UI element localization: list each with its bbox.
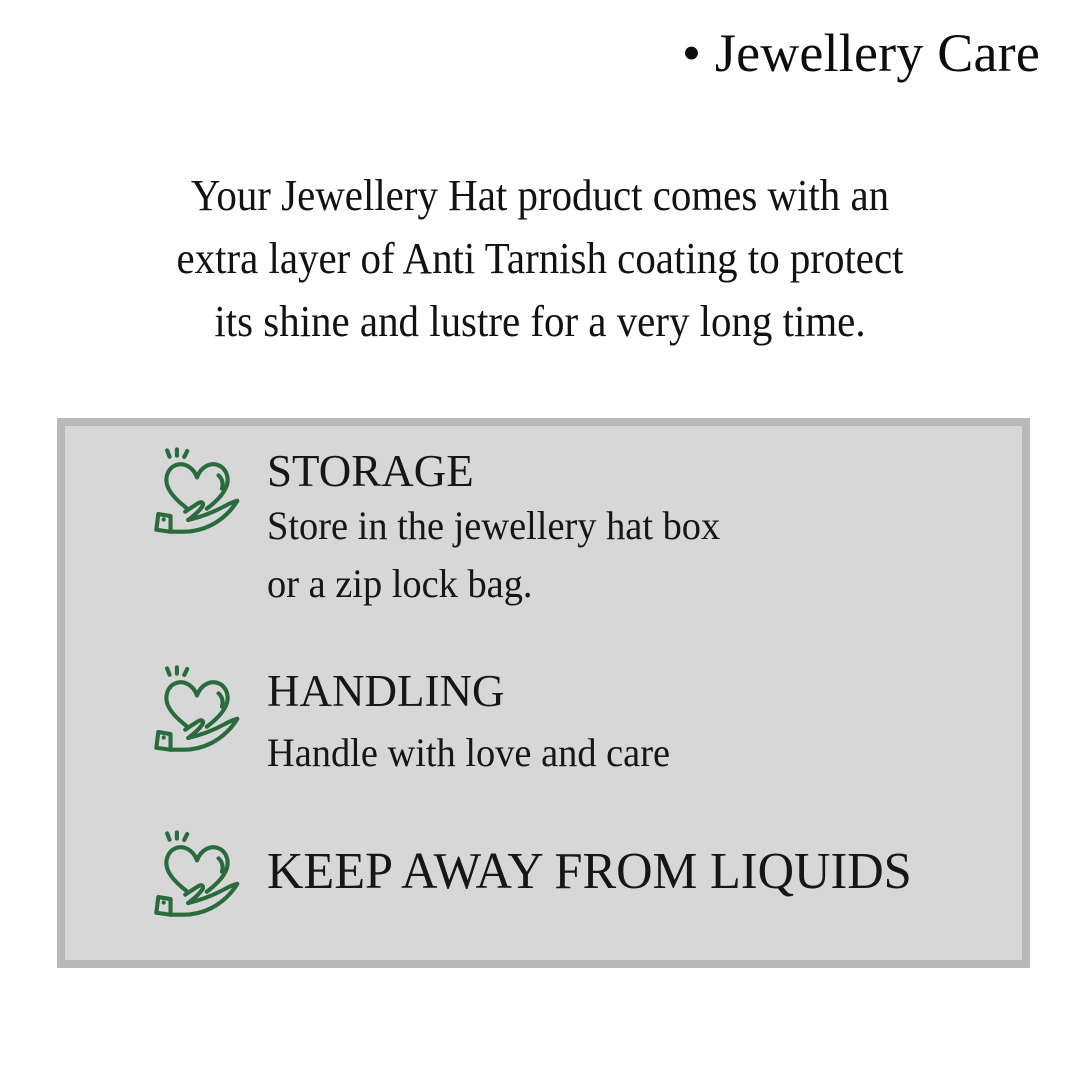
- care-heading-handling: HANDLING: [267, 663, 687, 719]
- care-item-storage: STORAGE Store in the jewellery hat box o…: [148, 445, 739, 613]
- care-instructions-box: STORAGE Store in the jewellery hat box o…: [57, 418, 1030, 968]
- care-heading-storage: STORAGE: [267, 445, 739, 497]
- care-detail-handling-line-1: Handle with love and care: [267, 719, 670, 787]
- heart-in-hand-icon: [148, 663, 246, 761]
- intro-paragraph: Your Jewellery Hat product comes with an…: [0, 164, 1080, 353]
- page-title-row: • Jewellery Care: [0, 26, 1040, 80]
- care-detail-storage-line-2: or a zip lock bag.: [267, 555, 720, 613]
- care-item-text: HANDLING Handle with love and care: [267, 663, 687, 787]
- page-title: • Jewellery Care: [682, 26, 1040, 80]
- heart-in-hand-icon: [148, 828, 246, 926]
- care-item-text: KEEP AWAY FROM LIQUIDS: [267, 828, 932, 900]
- care-item-handling: HANDLING Handle with love and care: [148, 663, 687, 787]
- care-item-text: STORAGE Store in the jewellery hat box o…: [267, 445, 739, 613]
- care-item-liquids: KEEP AWAY FROM LIQUIDS: [148, 828, 932, 926]
- care-detail-storage-line-1: Store in the jewellery hat box: [267, 497, 720, 555]
- heart-in-hand-icon: [148, 445, 246, 543]
- intro-line-3: its shine and lustre for a very long tim…: [38, 290, 1042, 353]
- care-heading-liquids: KEEP AWAY FROM LIQUIDS: [267, 844, 912, 900]
- intro-line-1: Your Jewellery Hat product comes with an: [38, 164, 1042, 227]
- intro-line-2: extra layer of Anti Tarnish coating to p…: [38, 227, 1042, 290]
